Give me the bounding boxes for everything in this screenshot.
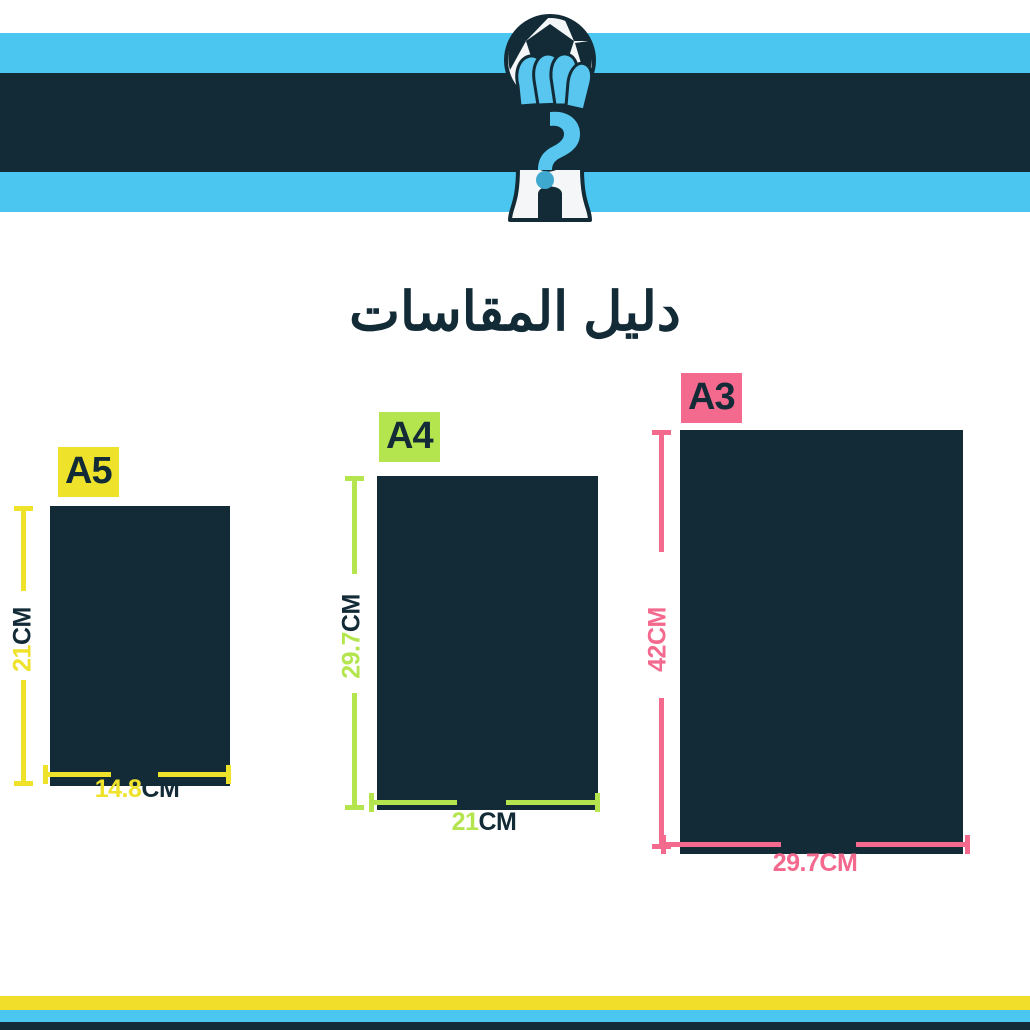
dim-cap-a5-height-top xyxy=(14,506,33,511)
footer-stripe-yellow xyxy=(0,996,1030,1010)
dim-cap-a5-width-right xyxy=(226,765,231,784)
dim-cap-a4-height-bottom xyxy=(345,805,364,810)
dim-label-a5-width: 14.8CM xyxy=(40,775,234,804)
size-guide-poster: دليل المقاسات A5 21CM 14.8CM A4 29.7CM xyxy=(0,0,1030,1030)
dim-line-a5-width-left xyxy=(43,772,111,777)
dim-value-a5-height: 21 xyxy=(9,645,37,672)
dim-line-a3-width-left xyxy=(661,842,781,847)
dim-unit-a5-height: CM xyxy=(9,607,37,645)
dim-label-a3-height: 42CM xyxy=(644,590,673,690)
size-badge-a5: A5 xyxy=(58,447,119,497)
dim-line-a5-height-upper xyxy=(21,506,26,591)
dim-line-a3-height-lower xyxy=(659,698,664,849)
dim-line-a4-width-right xyxy=(506,800,600,805)
dim-cap-a3-height-bottom xyxy=(652,844,671,849)
dim-cap-a3-width-left xyxy=(661,835,666,854)
dim-label-a3-width: 29.7CM xyxy=(658,849,972,878)
footer-stripe-cyan xyxy=(0,1010,1030,1022)
dim-cap-a3-height-top xyxy=(652,430,671,435)
dim-unit-a4-width: CM xyxy=(478,808,516,836)
dim-unit-a4-height: CM xyxy=(338,594,366,632)
dim-line-a4-height-lower xyxy=(352,693,357,810)
paper-rect-a3 xyxy=(680,430,963,854)
dim-label-a5-height: 21CM xyxy=(9,595,38,685)
size-badge-a4: A4 xyxy=(379,412,440,462)
paper-rect-a4 xyxy=(377,476,598,810)
dim-cap-a4-height-top xyxy=(345,476,364,481)
goalkeeper-glove-football-trophy-logo xyxy=(494,8,606,228)
dim-value-a3-width: 29.7 xyxy=(773,849,820,877)
dim-unit-a3-height: CM xyxy=(644,607,672,645)
dim-line-a5-height-lower xyxy=(21,680,26,786)
dim-value-a4-width: 21 xyxy=(452,808,479,836)
dim-line-a4-height-upper xyxy=(352,476,357,574)
dim-line-a3-width-right xyxy=(856,842,970,847)
dim-line-a4-width-left xyxy=(369,800,457,805)
dim-cap-a4-width-right xyxy=(595,793,600,812)
dim-cap-a3-width-right xyxy=(965,835,970,854)
dim-label-a4-width: 21CM xyxy=(366,808,602,837)
paper-rect-a5 xyxy=(50,506,230,786)
dim-label-a4-height: 29.7CM xyxy=(338,577,367,697)
size-badge-a3: A3 xyxy=(681,373,742,423)
dim-value-a3-height: 42 xyxy=(644,645,672,672)
dim-unit-a5-width: CM xyxy=(141,775,179,803)
dim-value-a5-width: 14.8 xyxy=(95,775,142,803)
dim-cap-a5-height-bottom xyxy=(14,781,33,786)
dim-line-a3-height-upper xyxy=(659,430,664,552)
dim-unit-a3-width: CM xyxy=(819,849,857,877)
dim-line-a5-width-right xyxy=(158,772,231,777)
dim-cap-a4-width-left xyxy=(369,793,374,812)
dim-value-a4-height: 29.7 xyxy=(338,632,366,679)
footer-stripe-navy xyxy=(0,1022,1030,1030)
dim-cap-a5-width-left xyxy=(43,765,48,784)
page-title: دليل المقاسات xyxy=(0,283,1030,342)
